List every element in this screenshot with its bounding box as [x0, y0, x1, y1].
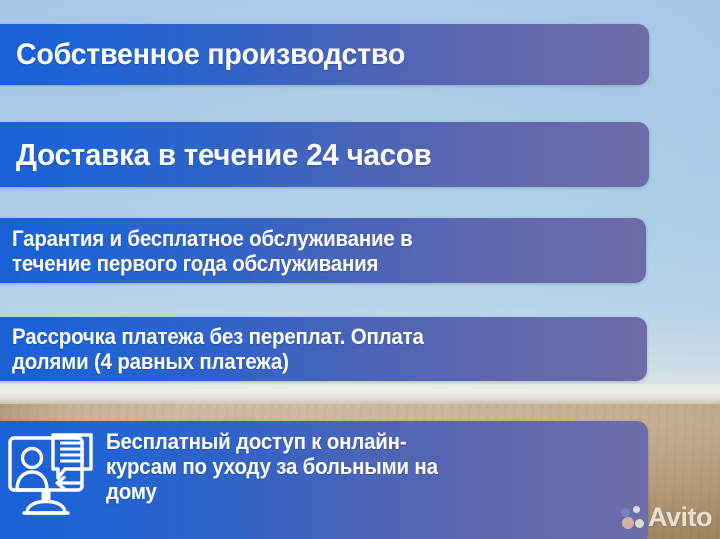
banner-delivery-24h-label: Доставка в течение 24 часов [16, 138, 432, 171]
banner-delivery-24h: Доставка в течение 24 часов [0, 122, 649, 187]
banner-installment-payment-label: Рассрочка платежа без переплат. Оплата д… [12, 324, 424, 374]
banner-free-online-courses-label: Бесплатный доступ к онлайн- курсам по ух… [106, 429, 438, 504]
poster-canvas: Собственное производство Доставка в тече… [0, 0, 720, 539]
banner-free-online-courses: Бесплатный доступ к онлайн- курсам по ух… [0, 421, 648, 539]
banner-own-production-label: Собственное производство [16, 39, 405, 71]
avito-watermark: Avito [621, 504, 712, 531]
online-course-monitor-icon [2, 429, 100, 521]
avito-wordmark: Avito [648, 504, 712, 531]
banner-warranty-free-service-label: Гарантия и бесплатное обслуживание в теч… [12, 226, 412, 276]
banner-own-production: Собственное производство [0, 24, 649, 85]
avito-dots-logo-icon [621, 506, 645, 530]
banner-warranty-free-service: Гарантия и бесплатное обслуживание в теч… [0, 218, 646, 283]
banner-installment-payment: Рассрочка платежа без переплат. Оплата д… [0, 317, 647, 381]
